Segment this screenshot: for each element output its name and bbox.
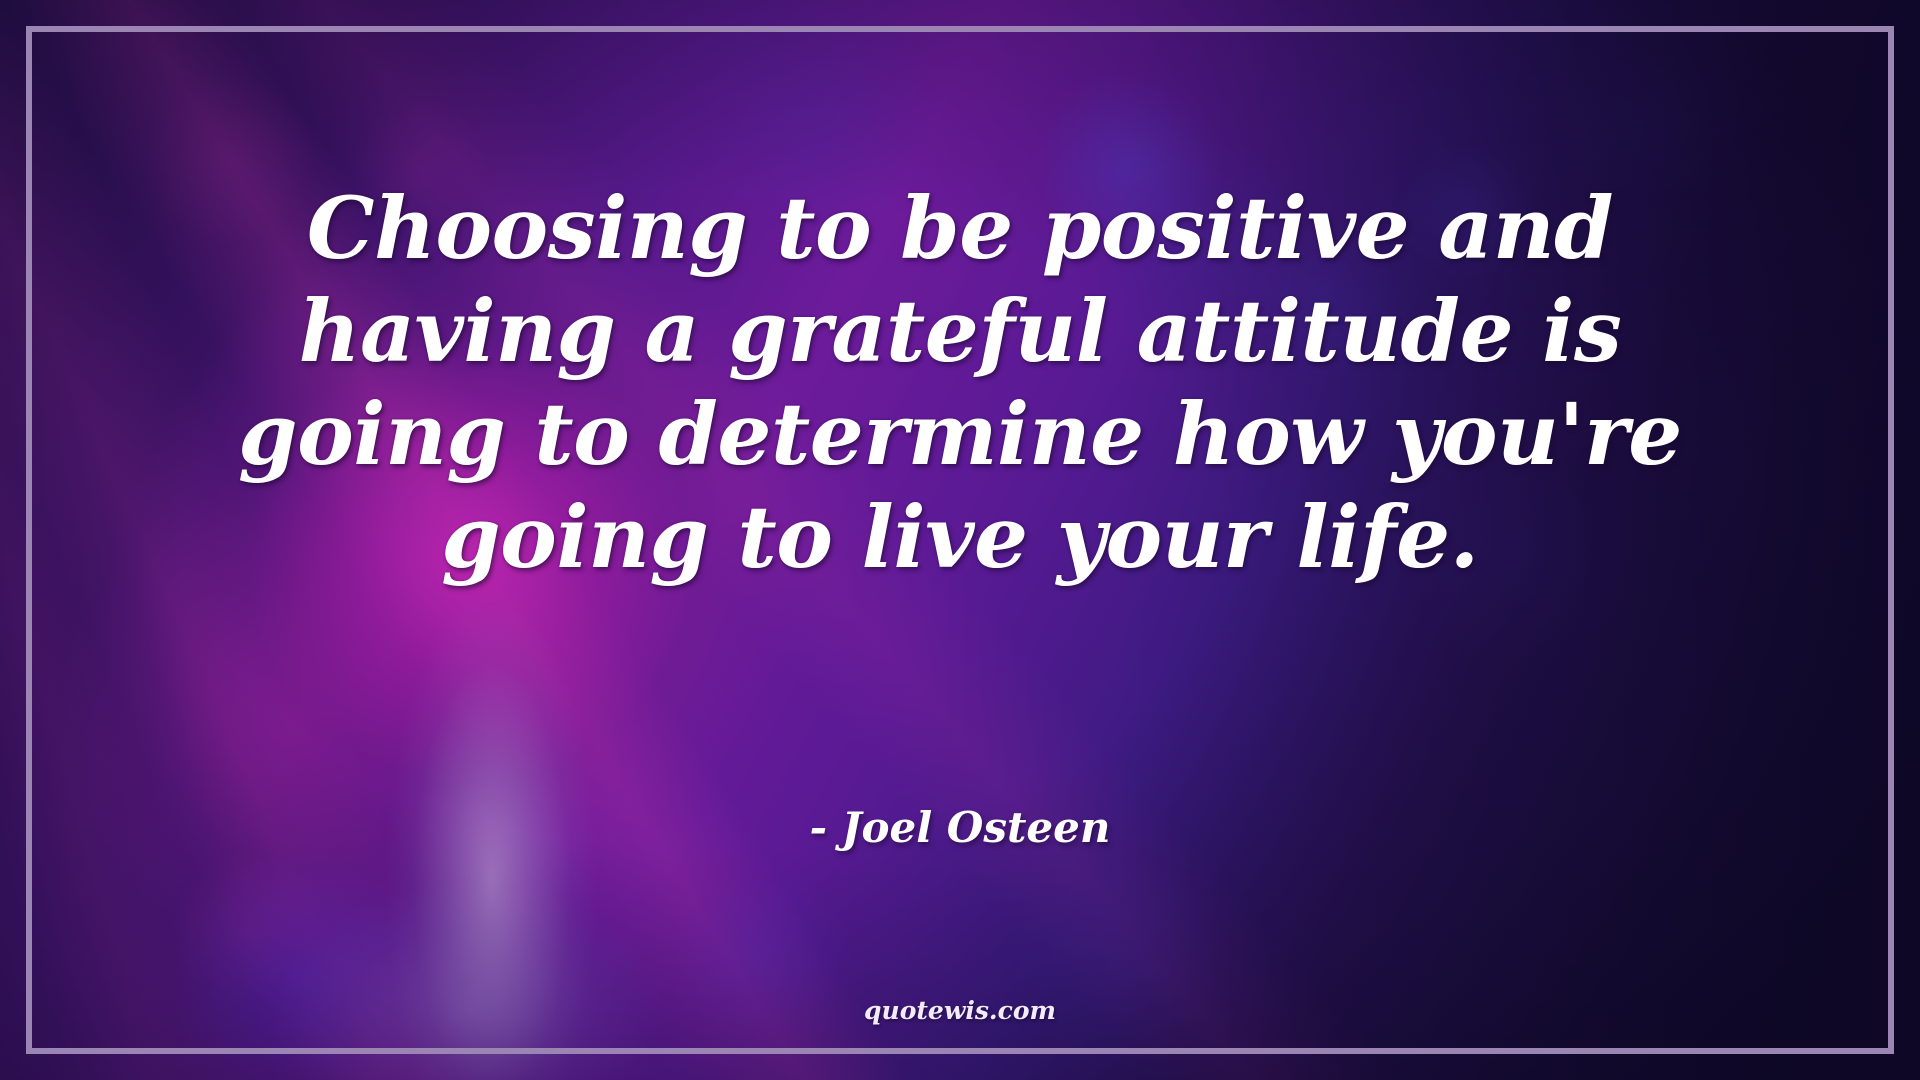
quote-card: Choosing to be positive and having a gra… bbox=[0, 0, 1920, 1080]
quote-attribution: - Joel Osteen bbox=[0, 802, 1920, 854]
site-watermark: quotewis.com bbox=[0, 996, 1920, 1026]
quote-content: Choosing to be positive and having a gra… bbox=[0, 0, 1920, 1080]
quote-text: Choosing to be positive and having a gra… bbox=[0, 178, 1920, 590]
